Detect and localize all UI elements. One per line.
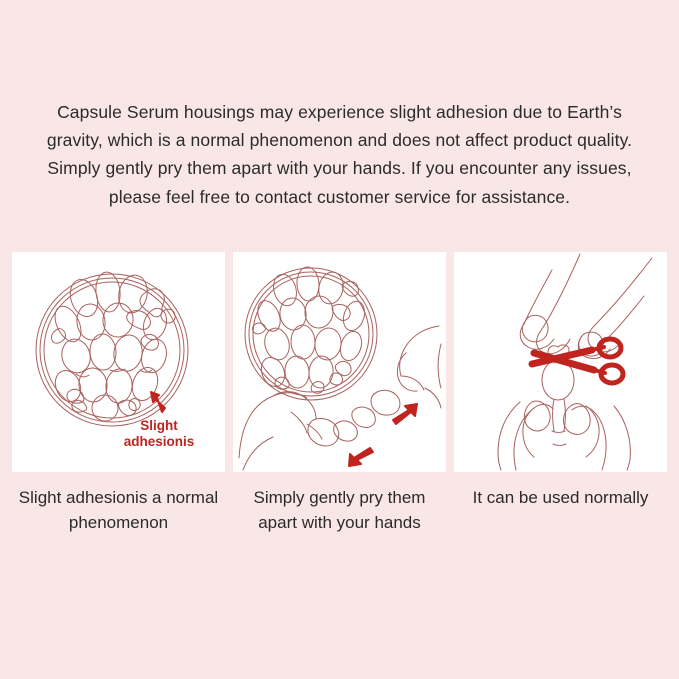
scissors-icon — [532, 339, 623, 383]
illustration-panel-row: Slight adhesionis — [12, 252, 667, 472]
jar-of-capsules-illustration: Slight adhesionis — [12, 252, 225, 472]
notice-paragraph: Capsule Serum housings may experience sl… — [40, 98, 639, 211]
hands-prying-capsules-illustration — [233, 252, 446, 472]
adhesion-label-line2: adhesionis — [124, 434, 195, 449]
caption-panel-1: Slight adhesionis a normal phenomenon — [12, 486, 225, 566]
panel-hands-prying — [233, 252, 446, 472]
adhesion-label-line1: Slight — [140, 418, 178, 433]
caption-panel-2: Simply gently pry them apart with your h… — [233, 486, 446, 566]
pry-arrows-icon — [349, 404, 417, 466]
caption-row: Slight adhesionis a normal phenomenon Si… — [12, 486, 667, 566]
product-instruction-graphic: Capsule Serum housings may experience sl… — [0, 0, 679, 679]
panel-jar-adhesion: Slight adhesionis — [12, 252, 225, 472]
panel-capsule-cut — [454, 252, 667, 472]
fingers-cutting-capsule-illustration — [454, 252, 667, 472]
caption-panel-3: It can be used normally — [454, 486, 667, 566]
